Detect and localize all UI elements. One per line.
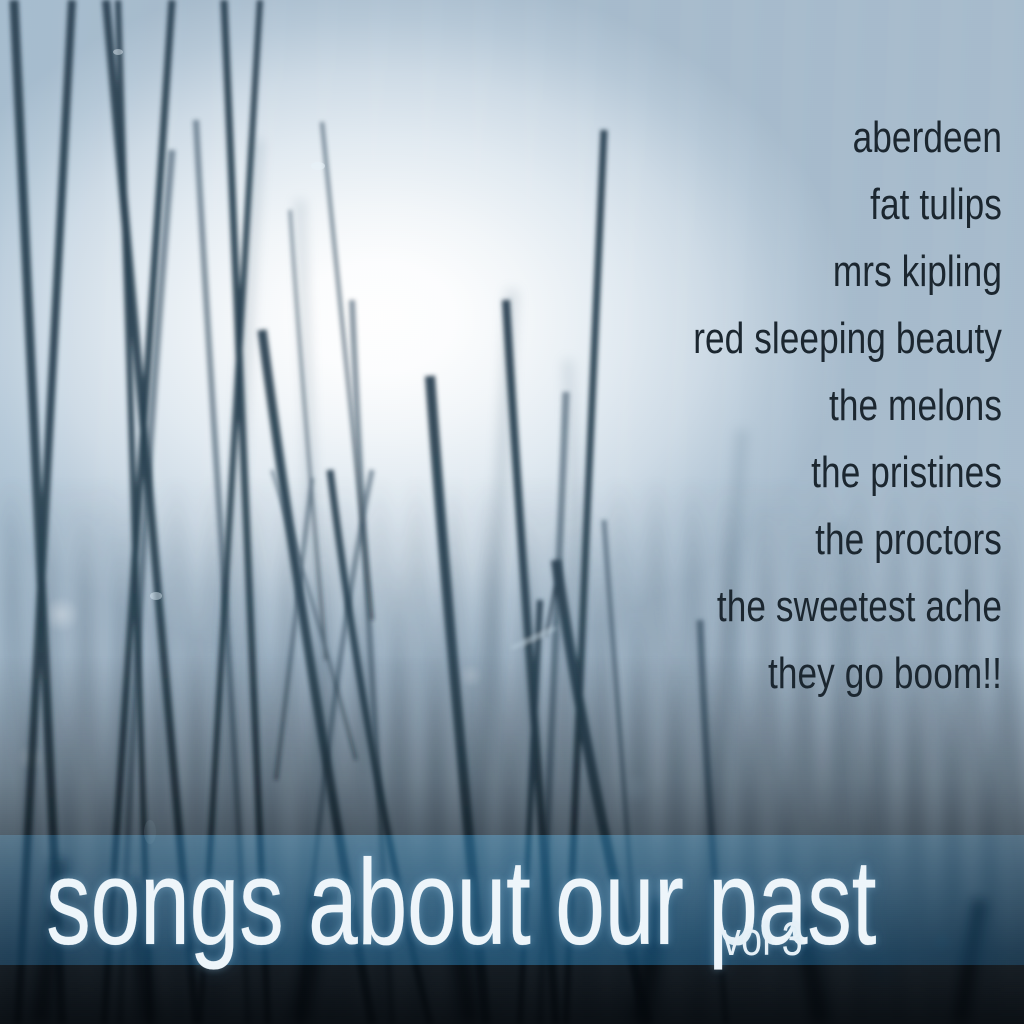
artist-list-item: they go boom!! [442,640,1002,707]
artist-list-item: fat tulips [442,171,1002,238]
artist-list: aberdeen fat tulips mrs kipling red slee… [302,104,1002,707]
album-cover: aberdeen fat tulips mrs kipling red slee… [0,0,1024,1024]
artist-list-item: mrs kipling [442,238,1002,305]
artist-list-item: the pristines [442,439,1002,506]
album-volume: vol 3 [722,915,803,962]
artist-list-item: red sleeping beauty [442,305,1002,372]
artist-list-item: the melons [442,372,1002,439]
artist-list-item: aberdeen [442,104,1002,171]
artist-list-item: the sweetest ache [442,573,1002,640]
artist-list-item: the proctors [442,506,1002,573]
